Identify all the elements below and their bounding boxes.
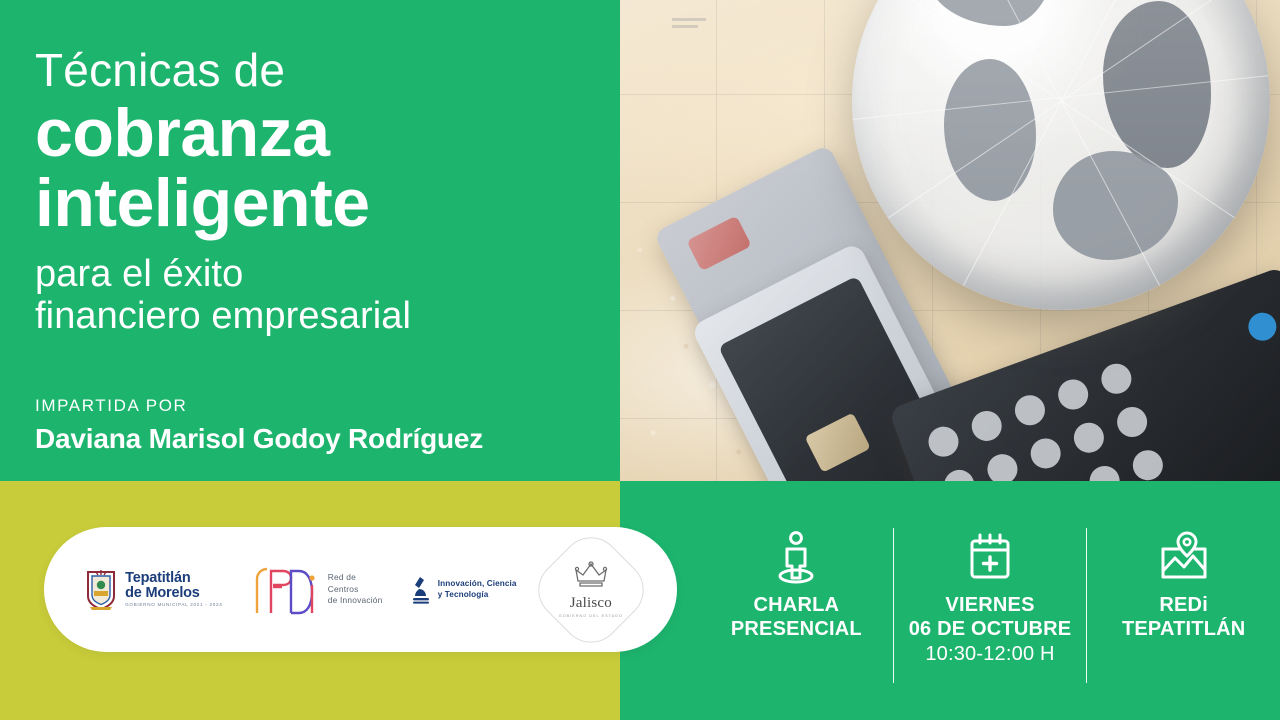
venue-line-2: TEPATITLÁN [1087,617,1280,641]
modality-line-1: CHARLA [700,593,893,617]
presenter-block: IMPARTIDA POR Daviana Marisol Godoy Rodr… [35,396,483,455]
title-line-2: cobranza [35,100,595,167]
title-line-3: inteligente [35,170,595,237]
detail-modality: CHARLA PRESENCIAL [700,521,893,642]
tepatitlan-name-line-2: de Morelos [125,586,222,601]
tepatitlan-name-line-1: Tepatitlán [125,571,222,586]
presenter-label: IMPARTIDA POR [35,396,483,416]
title-line-1: Técnicas de [35,46,595,96]
page-title: Técnicas de cobranza inteligente para el… [35,46,595,338]
event-details: CHARLA PRESENCIAL VIERNES 06 DE OCTUBRE … [700,521,1280,701]
logo-redi: Red de Centros de Innovación [251,563,383,617]
logo-innovacion-ciencia-tecnologia: Innovación, Ciencia y Tecnología [411,575,517,605]
logo-jalisco: Jalisco GOBIERNO DEL ESTADO [545,544,637,636]
date-line-1: VIERNES [894,593,1087,617]
date-line-3: 10:30-12:00 H [894,642,1087,666]
calendar-plus-icon [966,531,1014,583]
logo-tepatitlan: Tepatitlán de Morelos GOBIERNO MUNICIPAL… [84,569,222,611]
jalisco-tagline: GOBIERNO DEL ESTADO [559,614,623,618]
redi-monogram-icon [251,563,321,617]
redi-text-line-3: de Innovación [328,595,383,607]
crown-icon [574,561,608,589]
presenter-name: Daviana Marisol Godoy Rodríguez [35,423,483,455]
subtitle-line-2: financiero empresarial [35,295,595,338]
subtitle-line-1: para el éxito [35,253,595,296]
modality-line-2: PRESENCIAL [700,617,893,641]
microscope-icon [411,575,431,605]
redi-text-line-1: Red de [328,572,383,584]
coat-of-arms-icon [84,569,118,611]
jalisco-name: Jalisco [559,595,623,612]
ict-text-line-1: Innovación, Ciencia [438,579,517,590]
person-standing-icon [774,530,818,584]
redi-text-line-2: Centros [328,584,383,596]
sponsor-logo-bar: Tepatitlán de Morelos GOBIERNO MUNICIPAL… [44,527,677,652]
ict-text-line-2: y Tecnología [438,590,517,601]
detail-venue: REDi TEPATITLÁN [1087,521,1280,642]
detail-date: VIERNES 06 DE OCTUBRE 10:30-12:00 H [894,521,1087,666]
photo-haze [620,0,1280,481]
event-poster: Técnicas de cobranza inteligente para el… [0,0,1280,720]
map-location-icon [1157,531,1211,583]
date-line-2: 06 DE OCTUBRE [894,617,1087,641]
tepatitlan-tagline: GOBIERNO MUNICIPAL 2021 - 2024 [125,603,222,608]
venue-line-1: REDi [1087,593,1280,617]
hero-photo [620,0,1280,481]
